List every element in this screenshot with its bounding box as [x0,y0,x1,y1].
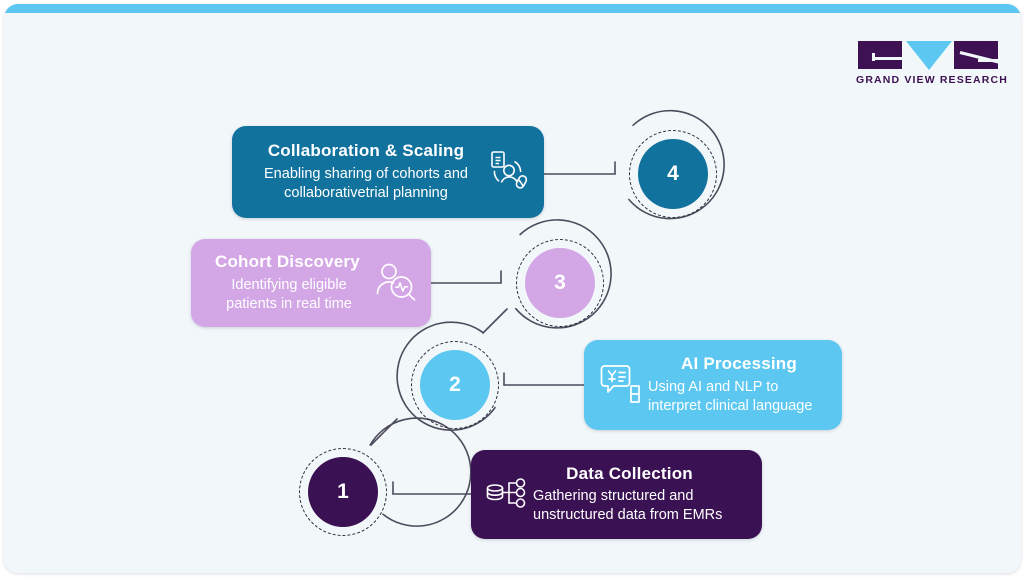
node-2-number-badge: 2 [420,350,490,420]
step-2-title: AI Processing [648,354,830,374]
logo-triangle-v [906,41,952,70]
node-4-number-badge: 4 [638,139,708,209]
step-node-4: 4 [618,119,728,229]
gvr-logo-icon [856,41,1004,71]
step-4-title: Collaboration & Scaling [252,141,480,161]
step-1-description: Gathering structured and unstructured da… [533,487,752,525]
step-3-description: Identifying eligible patients in real ti… [209,276,369,314]
diagram-surface: GRAND VIEW RESEARCH 1 2 3 [4,13,1021,573]
diagram-card: GRAND VIEW RESEARCH 1 2 3 [4,4,1021,573]
node-3-number-badge: 3 [525,248,595,318]
top-accent-bar [4,4,1021,13]
node-2-number: 2 [449,373,461,397]
logo-block-r [954,41,998,69]
step-2-description: Using AI and NLP to interpret clinical l… [648,378,830,416]
step-card-ai-processing: AI Processing Using AI and NLP to interp… [584,340,842,430]
step-card-cohort-discovery: Cohort Discovery Identifying eligible pa… [191,239,431,327]
node-1-number: 1 [337,480,349,504]
screenshot-canvas: GRAND VIEW RESEARCH 1 2 3 [0,0,1025,577]
step-4-description: Enabling sharing of cohorts and collabor… [252,165,480,203]
node-3-number: 3 [554,271,566,295]
step-node-2: 2 [400,330,510,440]
patient-document-pill-icon [484,149,536,195]
brand-logo: GRAND VIEW RESEARCH [856,41,1004,89]
step-card-data-collection: Data Collection Gathering structured and… [471,450,762,539]
chat-bubble-ai-icon [594,362,648,408]
step-node-3: 3 [505,228,615,338]
node-4-number: 4 [667,162,679,186]
database-nodes-icon [481,472,533,518]
patient-search-icon [369,260,421,306]
logo-block-g [858,41,902,69]
brand-name: GRAND VIEW RESEARCH [856,74,1004,86]
step-3-title: Cohort Discovery [209,252,369,272]
step-card-collaboration-scaling: Collaboration & Scaling Enabling sharing… [232,126,544,218]
step-1-title: Data Collection [533,464,752,484]
step-node-1: 1 [288,437,398,547]
node-1-number-badge: 1 [308,457,378,527]
